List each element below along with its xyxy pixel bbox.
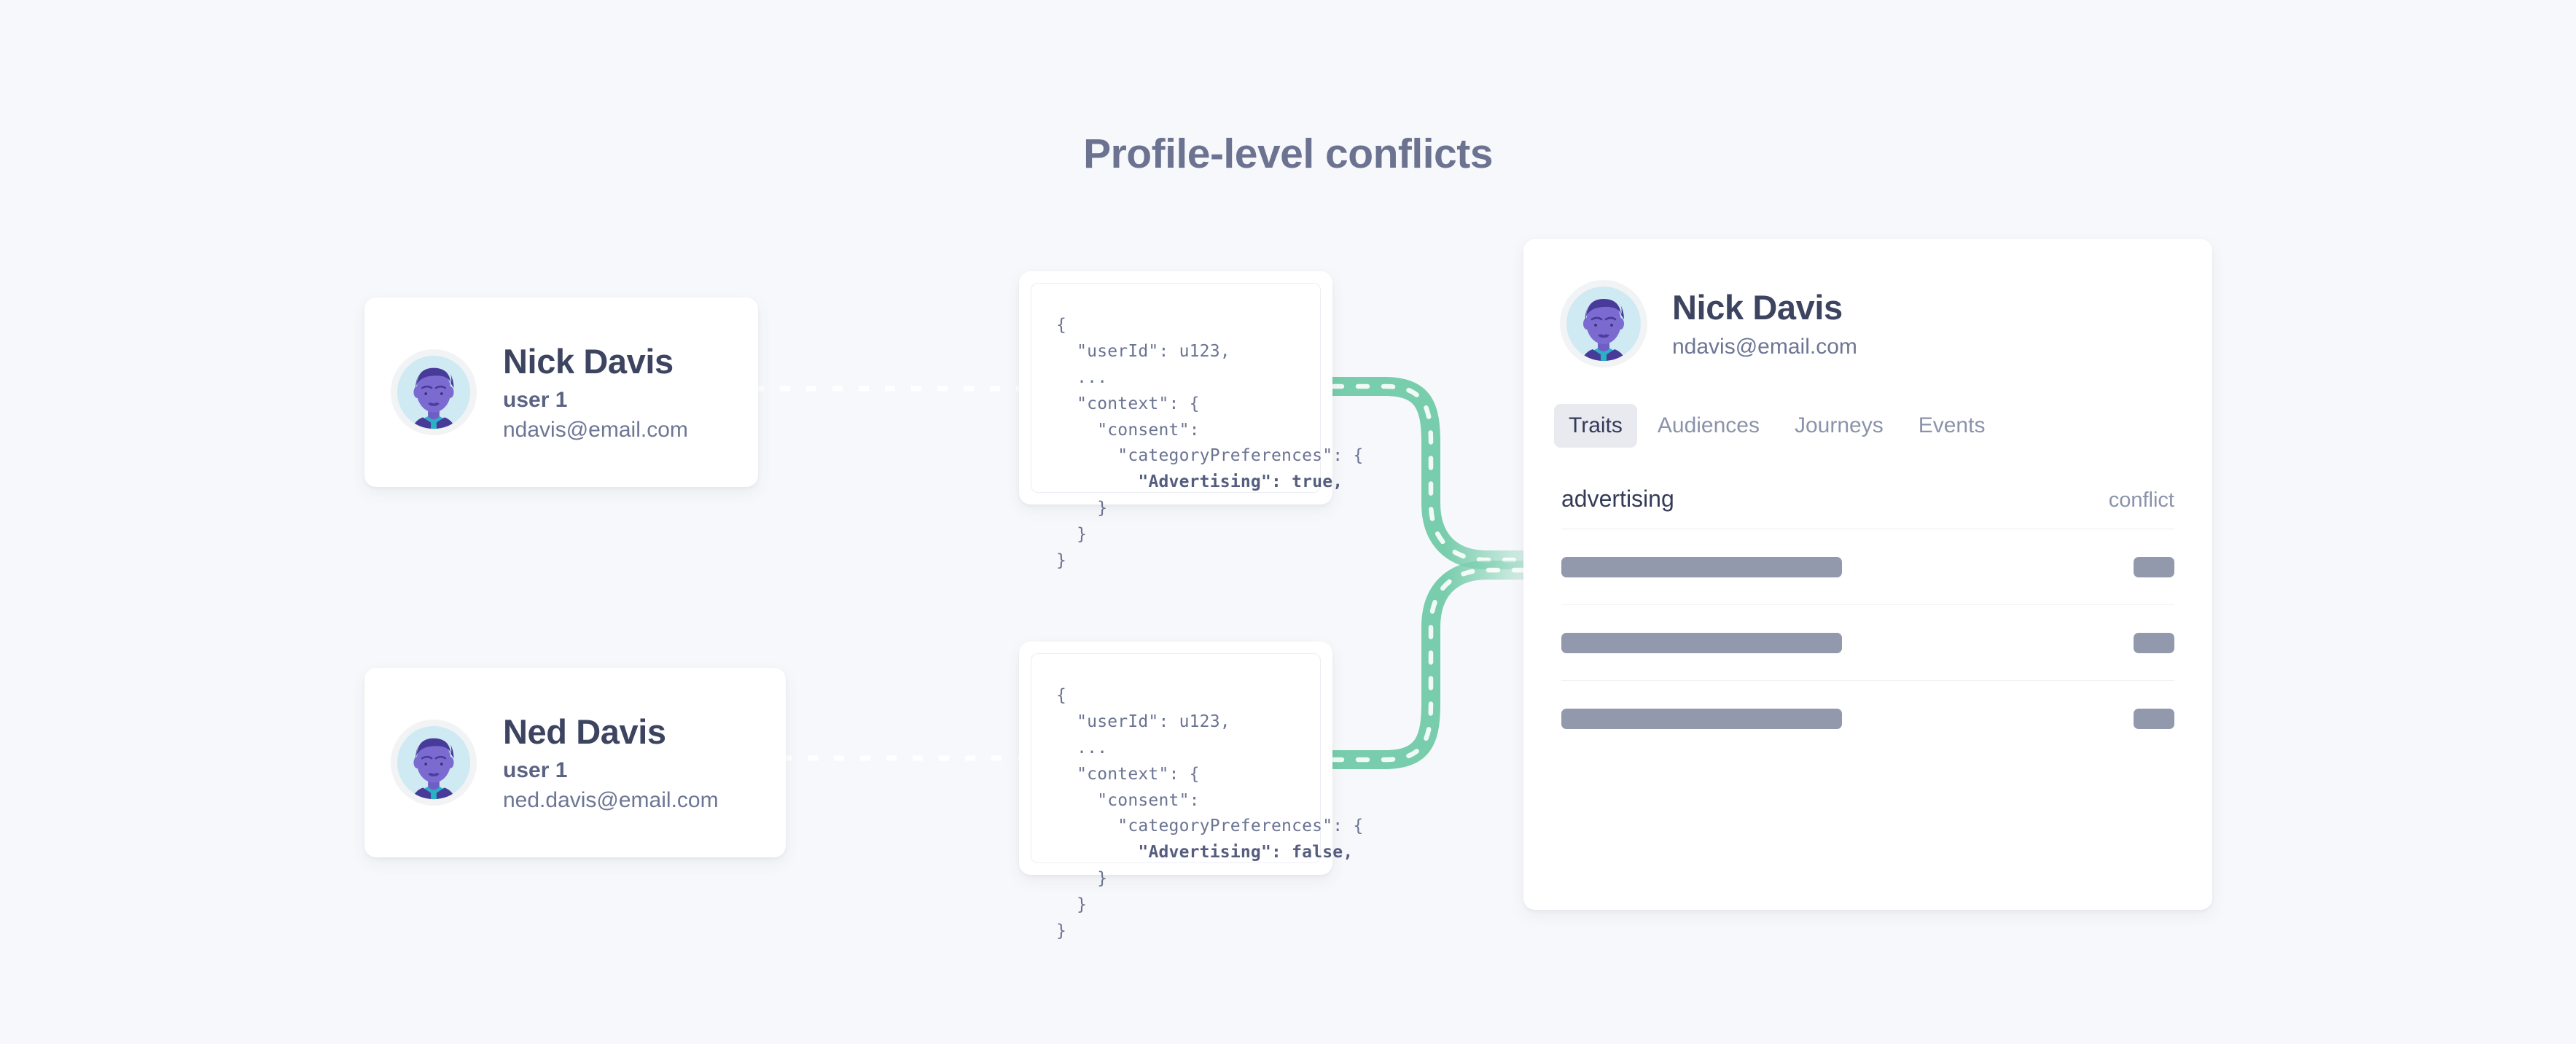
source-profile-userlabel-1: user 1 xyxy=(503,388,688,412)
trait-key-label: advertising xyxy=(1561,486,1674,513)
tab-audiences[interactable]: Audiences xyxy=(1643,404,1774,448)
avatar-nick-davis xyxy=(391,349,477,435)
source-profile-userlabel-2: user 1 xyxy=(503,758,719,782)
source-profile-text-1: Nick Davis user 1 ndavis@email.com xyxy=(503,343,688,443)
trait-placeholder-row[interactable] xyxy=(1561,529,2174,605)
placeholder-bar-short xyxy=(2134,709,2174,729)
source-profile-card-2[interactable]: Ned Davis user 1 ned.davis@email.com xyxy=(364,668,786,857)
connector-payload2-to-profile xyxy=(1332,570,1525,760)
trait-placeholder-list xyxy=(1561,529,2174,757)
payload-code-1: { "userId": u123, ... "context": { "cons… xyxy=(1056,313,1298,574)
profile-email: ndavis@email.com xyxy=(1672,335,1857,359)
payload-code-wrapper-2: { "userId": u123, ... "context": { "cons… xyxy=(1031,653,1321,863)
placeholder-bar-short xyxy=(2134,633,2174,653)
profile-header: Nick Davis ndavis@email.com xyxy=(1523,239,2212,367)
placeholder-bar-long xyxy=(1561,709,1842,729)
source-profile-email-1: ndavis@email.com xyxy=(503,418,688,442)
payload-code-2: { "userId": u123, ... "context": { "cons… xyxy=(1056,683,1298,945)
source-profile-text-2: Ned Davis user 1 ned.davis@email.com xyxy=(503,713,719,813)
avatar-ned-davis xyxy=(391,720,477,806)
placeholder-bar-long xyxy=(1561,557,1842,577)
avatar-illustration xyxy=(391,720,477,806)
page-title: Profile-level conflicts xyxy=(0,130,2576,178)
unified-profile-panel[interactable]: Nick Davis ndavis@email.com Traits Audie… xyxy=(1523,239,2212,910)
tab-traits[interactable]: Traits xyxy=(1554,404,1637,448)
source-profile-card-1[interactable]: Nick Davis user 1 ndavis@email.com xyxy=(364,297,758,487)
placeholder-bar-short xyxy=(2134,557,2174,577)
avatar-unified-profile xyxy=(1560,280,1647,367)
payload-card-2[interactable]: { "userId": u123, ... "context": { "cons… xyxy=(1019,642,1332,875)
profile-name: Nick Davis xyxy=(1672,289,1857,327)
avatar-illustration xyxy=(1560,280,1647,367)
trait-placeholder-row[interactable] xyxy=(1561,605,2174,681)
profile-identity: Nick Davis ndavis@email.com xyxy=(1672,289,1857,359)
trait-placeholder-row[interactable] xyxy=(1561,681,2174,757)
payload-card-1[interactable]: { "userId": u123, ... "context": { "cons… xyxy=(1019,271,1332,505)
connector-payload1-to-profile xyxy=(1332,386,1525,560)
source-profile-email-2: ned.davis@email.com xyxy=(503,788,719,812)
placeholder-bar-long xyxy=(1561,633,1842,653)
payload-code-wrapper-1: { "userId": u123, ... "context": { "cons… xyxy=(1031,283,1321,493)
tab-events[interactable]: Events xyxy=(1904,404,2000,448)
trait-conflict-status: conflict xyxy=(2109,488,2174,513)
tab-journeys[interactable]: Journeys xyxy=(1780,404,1898,448)
source-profile-name-2: Ned Davis xyxy=(503,713,719,752)
profile-tabs: Traits Audiences Journeys Events xyxy=(1523,404,2212,448)
avatar-illustration xyxy=(391,349,477,435)
source-profile-name-1: Nick Davis xyxy=(503,343,688,381)
trait-header-row: advertising conflict xyxy=(1561,486,2174,529)
diagram-canvas: Profile-level conflicts xyxy=(0,0,2576,1044)
